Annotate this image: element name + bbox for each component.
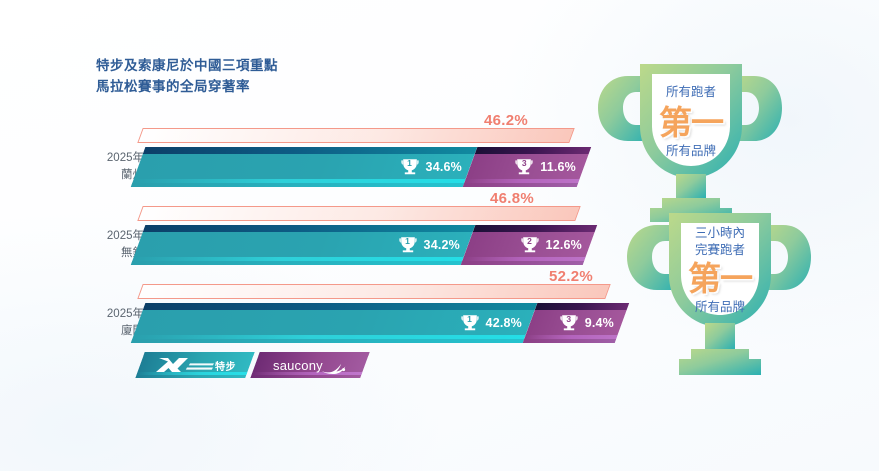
saucony-logo-icon: saucony (273, 354, 347, 376)
rank-number: 2 (519, 237, 541, 246)
total-value: 46.2% (484, 112, 528, 129)
bar-segment-xtep[interactable]: 1 34.6% (131, 147, 478, 187)
segment-marker: 3 11.6% (513, 156, 576, 178)
rank-number: 3 (513, 159, 535, 168)
legend: 特步 saucony (140, 352, 365, 378)
bar-segment-saucony[interactable]: 3 11.6% (463, 147, 592, 187)
bar-segment-saucony[interactable]: 2 12.6% (461, 225, 598, 265)
legend-label-saucony: saucony (273, 358, 323, 373)
rank-number: 1 (399, 159, 421, 168)
trophy-award-sub-three-hours: 三小時內 完賽跑者 第一 所有品牌 (617, 195, 823, 395)
segment-inner: 1 34.6% (138, 147, 470, 187)
segment-value: 42.8% (486, 316, 522, 330)
xtep-mark-icon (155, 356, 215, 374)
total-bar (137, 128, 574, 143)
segment-inner: 3 9.4% (530, 303, 622, 343)
segment-value: 34.6% (426, 160, 462, 174)
segment-marker: 2 12.6% (519, 234, 582, 256)
segment-value: 34.2% (424, 238, 460, 252)
trophy-shape-icon (617, 195, 823, 395)
trophy-icon: 1 (459, 312, 481, 334)
xtep-logo-icon: 特步 (155, 356, 236, 374)
trophy-icon: 1 (397, 234, 419, 256)
rank-number: 3 (558, 315, 580, 324)
segment-marker: 3 9.4% (558, 312, 614, 334)
trophy-icon: 3 (558, 312, 580, 334)
segment-value: 11.6% (540, 160, 576, 174)
segment-inner: 1 42.8% (138, 303, 530, 343)
rank-number: 1 (397, 237, 419, 246)
segment-inner: 1 34.2% (138, 225, 468, 265)
infographic-canvas: 特步及索康尼於中國三項重點 馬拉松賽事的全局穿著率 2025年 蘭州 46.2%… (0, 0, 879, 471)
legend-label-xtep: 特步 (215, 358, 236, 373)
legend-item-xtep[interactable]: 特步 (135, 352, 254, 378)
segment-inner: 2 12.6% (468, 225, 590, 265)
bar-segment-saucony[interactable]: 3 9.4% (523, 303, 630, 343)
rank-number: 1 (459, 315, 481, 324)
bar-segment-xtep[interactable]: 1 34.2% (131, 225, 476, 265)
legend-item-saucony[interactable]: saucony (250, 352, 369, 378)
page-title: 特步及索康尼於中國三項重點 馬拉松賽事的全局穿著率 (96, 56, 278, 98)
trophy-icon: 1 (399, 156, 421, 178)
segment-marker: 1 42.8% (459, 312, 522, 334)
segment-inner: 3 11.6% (470, 147, 584, 187)
total-bar (137, 206, 580, 221)
trophy-icon: 2 (519, 234, 541, 256)
total-value: 46.8% (490, 190, 534, 207)
bar-segment-xtep[interactable]: 1 42.8% (131, 303, 538, 343)
saucony-swoosh-icon (321, 360, 347, 376)
segment-value: 12.6% (546, 238, 582, 252)
trophy-icon: 3 (513, 156, 535, 178)
total-value: 52.2% (549, 268, 593, 285)
segment-marker: 1 34.6% (399, 156, 462, 178)
segment-marker: 1 34.2% (397, 234, 460, 256)
segment-value: 9.4% (585, 316, 614, 330)
total-bar (137, 284, 610, 299)
